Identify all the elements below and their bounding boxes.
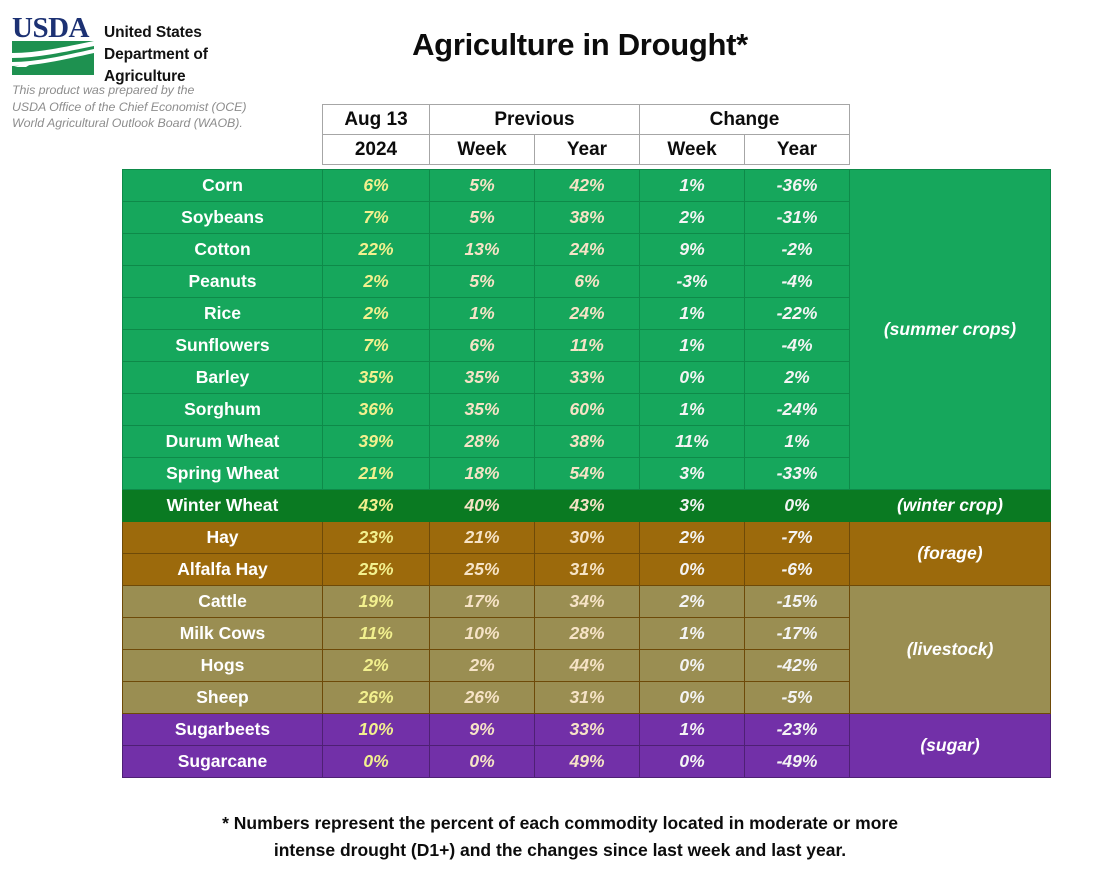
value-current: 21% <box>323 458 430 490</box>
prepared-by-note: This product was prepared by the USDA Of… <box>12 82 246 132</box>
value-change-year: -4% <box>745 330 850 362</box>
drought-report-page: USDA United States Department of Agricul… <box>0 0 1105 884</box>
value-previous-week: 1% <box>430 298 535 330</box>
value-previous-week: 26% <box>430 682 535 714</box>
table-row: Cattle19%17%34%2%-15%(livestock) <box>123 586 1051 618</box>
commodity-name: Spring Wheat <box>123 458 323 490</box>
commodity-name: Sugarcane <box>123 746 323 778</box>
commodity-name: Alfalfa Hay <box>123 554 323 586</box>
commodity-name: Cattle <box>123 586 323 618</box>
commodity-name: Hay <box>123 522 323 554</box>
value-previous-year: 31% <box>535 554 640 586</box>
value-previous-year: 60% <box>535 394 640 426</box>
commodity-name: Sheep <box>123 682 323 714</box>
value-change-year: -7% <box>745 522 850 554</box>
value-change-week: 2% <box>640 586 745 618</box>
category-label-sugar: (sugar) <box>850 714 1051 778</box>
value-change-week: 1% <box>640 170 745 202</box>
header-sub-row: 2024 Week Year Week Year <box>323 135 850 165</box>
value-current: 43% <box>323 490 430 522</box>
value-current: 26% <box>323 682 430 714</box>
value-previous-week: 25% <box>430 554 535 586</box>
value-change-year: -31% <box>745 202 850 234</box>
commodity-name: Sunflowers <box>123 330 323 362</box>
value-change-year: -23% <box>745 714 850 746</box>
agency-name: United States Department of Agriculture <box>104 22 208 88</box>
value-previous-week: 9% <box>430 714 535 746</box>
value-previous-week: 21% <box>430 522 535 554</box>
commodity-name: Peanuts <box>123 266 323 298</box>
value-current: 22% <box>323 234 430 266</box>
value-change-week: 0% <box>640 554 745 586</box>
header-sub-previous-year: Year <box>535 135 640 165</box>
value-change-year: 1% <box>745 426 850 458</box>
value-change-year: -22% <box>745 298 850 330</box>
value-previous-year: 6% <box>535 266 640 298</box>
value-change-week: 0% <box>640 362 745 394</box>
value-previous-week: 5% <box>430 266 535 298</box>
footnote-line-2: intense drought (D1+) and the changes si… <box>120 837 1000 864</box>
value-change-week: 9% <box>640 234 745 266</box>
value-change-year: -33% <box>745 458 850 490</box>
value-previous-year: 11% <box>535 330 640 362</box>
usda-wordmark: USDA <box>12 14 89 43</box>
footnote: * Numbers represent the percent of each … <box>120 810 1000 864</box>
value-previous-week: 5% <box>430 202 535 234</box>
category-label-forage: (forage) <box>850 522 1051 586</box>
prepared-line-1: This product was prepared by the <box>12 82 246 99</box>
prepared-line-2: USDA Office of the Chief Economist (OCE) <box>12 99 246 116</box>
value-previous-year: 30% <box>535 522 640 554</box>
value-previous-week: 35% <box>430 394 535 426</box>
header-group-change: Change <box>640 105 850 135</box>
value-previous-week: 0% <box>430 746 535 778</box>
value-current: 7% <box>323 202 430 234</box>
value-current: 39% <box>323 426 430 458</box>
value-change-year: -17% <box>745 618 850 650</box>
value-previous-year: 54% <box>535 458 640 490</box>
table-row: Sugarbeets10%9%33%1%-23%(sugar) <box>123 714 1051 746</box>
value-current: 35% <box>323 362 430 394</box>
value-previous-year: 43% <box>535 490 640 522</box>
value-previous-week: 13% <box>430 234 535 266</box>
value-current: 0% <box>323 746 430 778</box>
value-current: 11% <box>323 618 430 650</box>
header-sub-change-week: Week <box>640 135 745 165</box>
value-previous-week: 6% <box>430 330 535 362</box>
value-change-year: 2% <box>745 362 850 394</box>
value-previous-year: 42% <box>535 170 640 202</box>
page-title: Agriculture in Drought* <box>300 27 860 63</box>
value-previous-week: 2% <box>430 650 535 682</box>
table-header: Aug 13 Previous Change 2024 Week Year We… <box>322 104 850 165</box>
value-current: 2% <box>323 298 430 330</box>
commodity-name: Sugarbeets <box>123 714 323 746</box>
commodity-name: Barley <box>123 362 323 394</box>
commodity-name: Sorghum <box>123 394 323 426</box>
commodity-name: Winter Wheat <box>123 490 323 522</box>
header-sub-previous-week: Week <box>430 135 535 165</box>
header-group-row: Aug 13 Previous Change <box>323 105 850 135</box>
value-change-week: 3% <box>640 490 745 522</box>
value-change-week: 2% <box>640 522 745 554</box>
value-change-year: -5% <box>745 682 850 714</box>
value-previous-year: 28% <box>535 618 640 650</box>
value-current: 23% <box>323 522 430 554</box>
value-previous-week: 35% <box>430 362 535 394</box>
commodity-name: Milk Cows <box>123 618 323 650</box>
usda-logo-icon: USDA <box>12 14 94 76</box>
value-change-week: 1% <box>640 298 745 330</box>
category-label-winter: (winter crop) <box>850 490 1051 522</box>
value-previous-year: 33% <box>535 362 640 394</box>
footnote-line-1: * Numbers represent the percent of each … <box>120 810 1000 837</box>
value-previous-week: 10% <box>430 618 535 650</box>
commodity-name: Cotton <box>123 234 323 266</box>
value-change-week: 2% <box>640 202 745 234</box>
value-previous-week: 18% <box>430 458 535 490</box>
value-current: 25% <box>323 554 430 586</box>
category-label-summer: (summer crops) <box>850 170 1051 490</box>
value-change-year: -15% <box>745 586 850 618</box>
commodity-name: Soybeans <box>123 202 323 234</box>
value-change-week: -3% <box>640 266 745 298</box>
table-row: Winter Wheat43%40%43%3%0%(winter crop) <box>123 490 1051 522</box>
value-change-year: -24% <box>745 394 850 426</box>
value-previous-week: 28% <box>430 426 535 458</box>
value-change-week: 11% <box>640 426 745 458</box>
commodity-name: Hogs <box>123 650 323 682</box>
header-sub-change-year: Year <box>745 135 850 165</box>
value-change-year: 0% <box>745 490 850 522</box>
agency-line-1: United States <box>104 22 208 44</box>
header-sub-year: 2024 <box>323 135 430 165</box>
value-previous-week: 5% <box>430 170 535 202</box>
value-previous-year: 49% <box>535 746 640 778</box>
value-change-year: -6% <box>745 554 850 586</box>
value-change-year: -49% <box>745 746 850 778</box>
value-previous-year: 44% <box>535 650 640 682</box>
value-previous-year: 31% <box>535 682 640 714</box>
commodity-name: Corn <box>123 170 323 202</box>
value-change-week: 1% <box>640 714 745 746</box>
commodity-name: Durum Wheat <box>123 426 323 458</box>
value-current: 19% <box>323 586 430 618</box>
header-group-previous: Previous <box>430 105 640 135</box>
value-change-week: 1% <box>640 394 745 426</box>
value-previous-year: 33% <box>535 714 640 746</box>
value-change-year: -2% <box>745 234 850 266</box>
value-change-week: 1% <box>640 330 745 362</box>
value-previous-year: 38% <box>535 426 640 458</box>
value-change-week: 3% <box>640 458 745 490</box>
value-change-year: -4% <box>745 266 850 298</box>
value-previous-year: 38% <box>535 202 640 234</box>
value-current: 36% <box>323 394 430 426</box>
value-change-year: -42% <box>745 650 850 682</box>
value-current: 10% <box>323 714 430 746</box>
value-previous-year: 34% <box>535 586 640 618</box>
value-current: 6% <box>323 170 430 202</box>
value-previous-year: 24% <box>535 234 640 266</box>
drought-data-table: Corn6%5%42%1%-36%(summer crops)Soybeans7… <box>122 169 1051 778</box>
category-label-livestock: (livestock) <box>850 586 1051 714</box>
value-change-week: 0% <box>640 682 745 714</box>
value-previous-week: 40% <box>430 490 535 522</box>
value-previous-year: 24% <box>535 298 640 330</box>
value-change-week: 1% <box>640 618 745 650</box>
prepared-line-3: World Agricultural Outlook Board (WAOB). <box>12 115 246 132</box>
table-row: Hay23%21%30%2%-7%(forage) <box>123 522 1051 554</box>
value-current: 7% <box>323 330 430 362</box>
value-current: 2% <box>323 266 430 298</box>
table-row: Corn6%5%42%1%-36%(summer crops) <box>123 170 1051 202</box>
agency-line-2: Department of <box>104 44 208 66</box>
header-group-date: Aug 13 <box>323 105 430 135</box>
usda-green-swoosh-icon <box>12 41 94 75</box>
value-change-week: 0% <box>640 746 745 778</box>
value-current: 2% <box>323 650 430 682</box>
value-previous-week: 17% <box>430 586 535 618</box>
commodity-name: Rice <box>123 298 323 330</box>
value-change-week: 0% <box>640 650 745 682</box>
value-change-year: -36% <box>745 170 850 202</box>
